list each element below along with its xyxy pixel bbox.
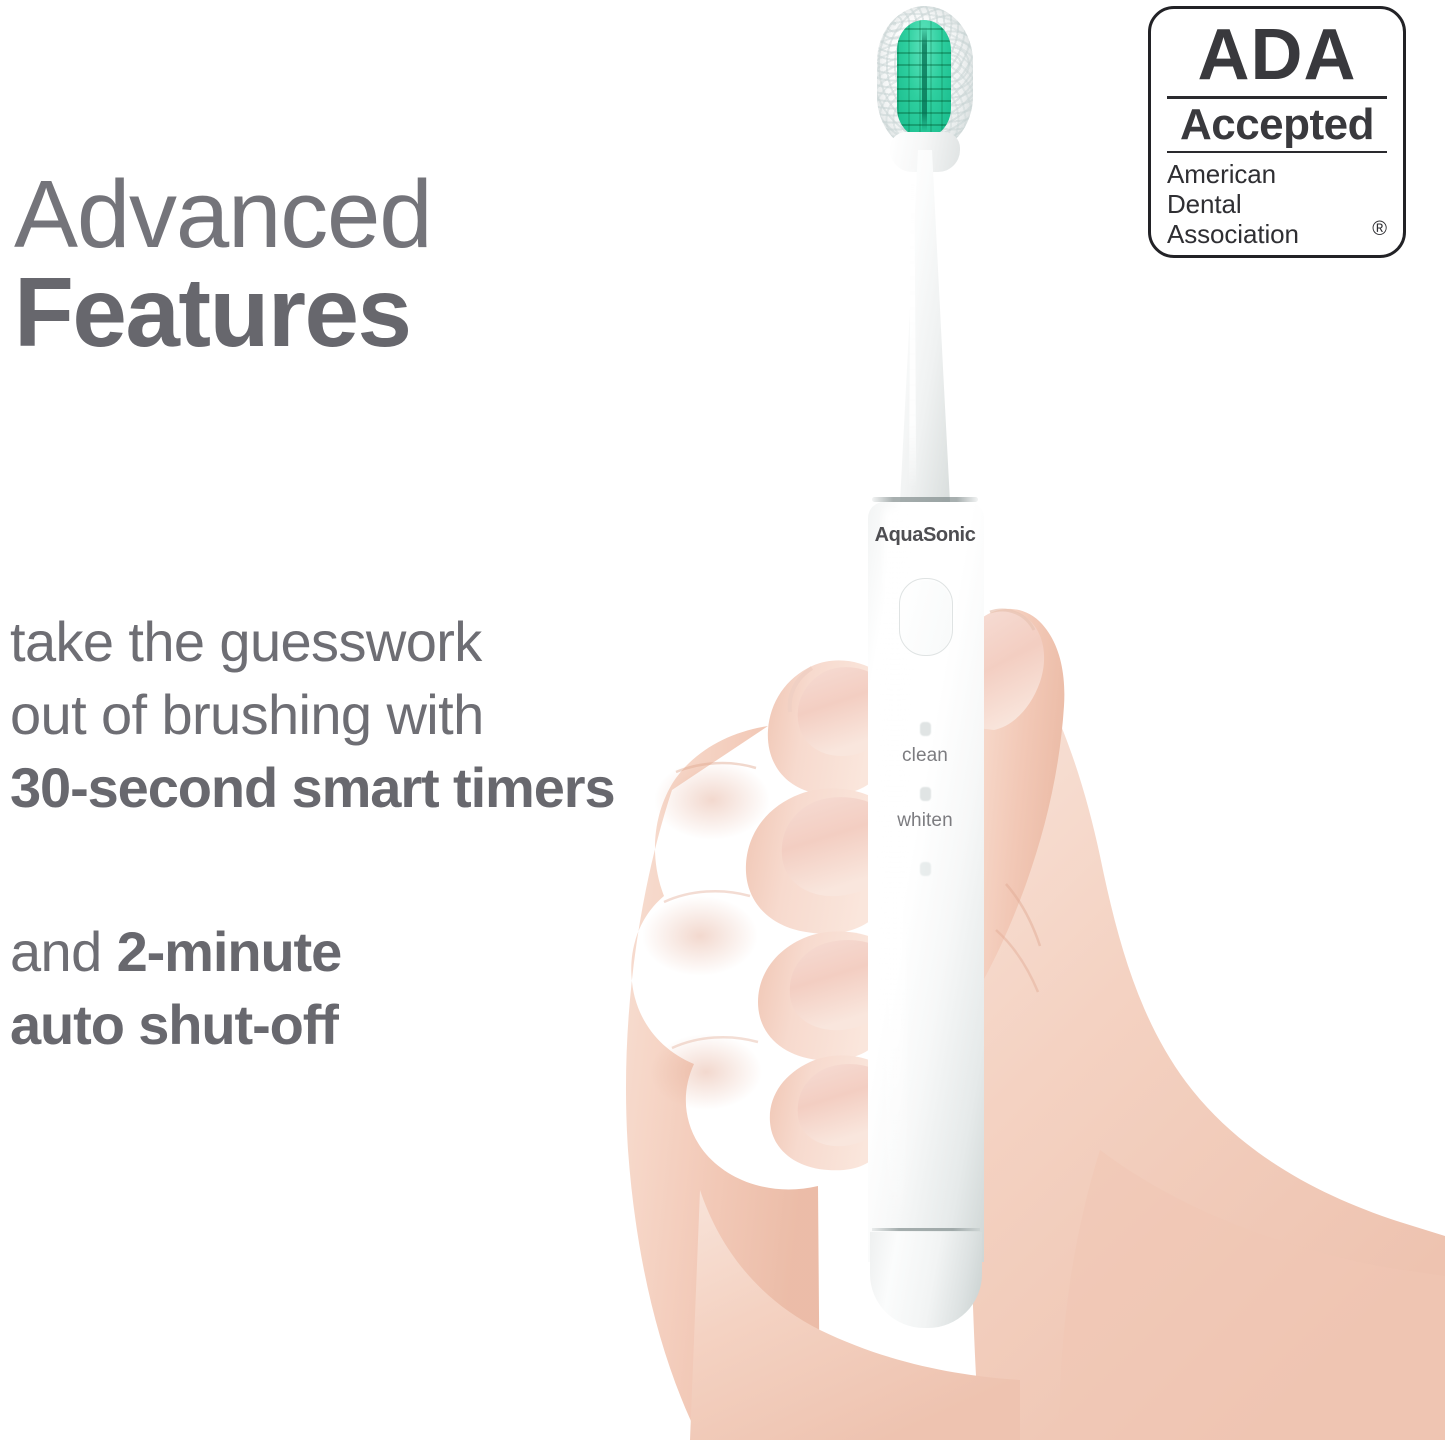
handle-cap-seam — [872, 1228, 980, 1231]
power-button[interactable] — [899, 578, 953, 656]
assoc-line-1: American — [1167, 159, 1387, 189]
badge-divider-upper — [1167, 96, 1387, 99]
feature-text-smart-timers: take the guesswork out of brushing with … — [10, 606, 615, 824]
ada-accepted-badge: ADA Accepted American Dental Association… — [1148, 6, 1406, 258]
ada-acronym: ADA — [1167, 21, 1387, 90]
brand-logo-aquasonic: AquaSonic — [860, 524, 990, 547]
shutoff-line-1: and 2-minute — [10, 916, 341, 989]
badge-divider-lower — [1167, 151, 1387, 153]
shutoff-line-1-normal: and — [10, 920, 117, 983]
product-feature-graphic: Advanced Features take the guesswork out… — [0, 0, 1445, 1440]
feature-text-auto-shutoff: and 2-minute auto shut-off — [10, 916, 341, 1062]
assoc-line-2: Dental — [1167, 189, 1387, 219]
shutoff-line-2-emphasis: auto shut-off — [10, 989, 341, 1062]
headline-line-features: Features — [14, 265, 431, 360]
timers-line-3-emphasis: 30-second smart timers — [10, 752, 615, 825]
finger-middle — [746, 788, 878, 933]
shutoff-line-1-emphasis: 2-minute — [117, 920, 342, 983]
bristle-center-shadow — [922, 26, 927, 132]
registered-trademark-icon: ® — [1372, 218, 1387, 241]
timers-line-1: take the guesswork — [10, 606, 615, 679]
handle-bottom-cap — [870, 1232, 982, 1328]
brush-neck — [900, 150, 950, 502]
palm-mass — [969, 658, 1445, 1440]
mode-indicator-led-third — [920, 862, 931, 876]
timers-line-2: out of brushing with — [10, 679, 615, 752]
ada-accepted-label: Accepted — [1167, 103, 1387, 147]
mode-indicator-led-whiten — [920, 787, 931, 801]
headline-line-advanced: Advanced — [14, 168, 431, 261]
mode-label-whiten: whiten — [860, 810, 990, 832]
ada-association-name: American Dental Association — [1167, 159, 1387, 249]
brush-head-teal-bristles — [897, 20, 951, 138]
mode-indicator-led-clean — [920, 722, 931, 736]
assoc-line-3: Association — [1167, 219, 1387, 249]
electric-toothbrush: AquaSonic clean whiten — [860, 0, 990, 1340]
finger-knuckles — [626, 726, 820, 1440]
page-title: Advanced Features — [14, 168, 431, 360]
mode-label-clean: clean — [860, 745, 990, 767]
